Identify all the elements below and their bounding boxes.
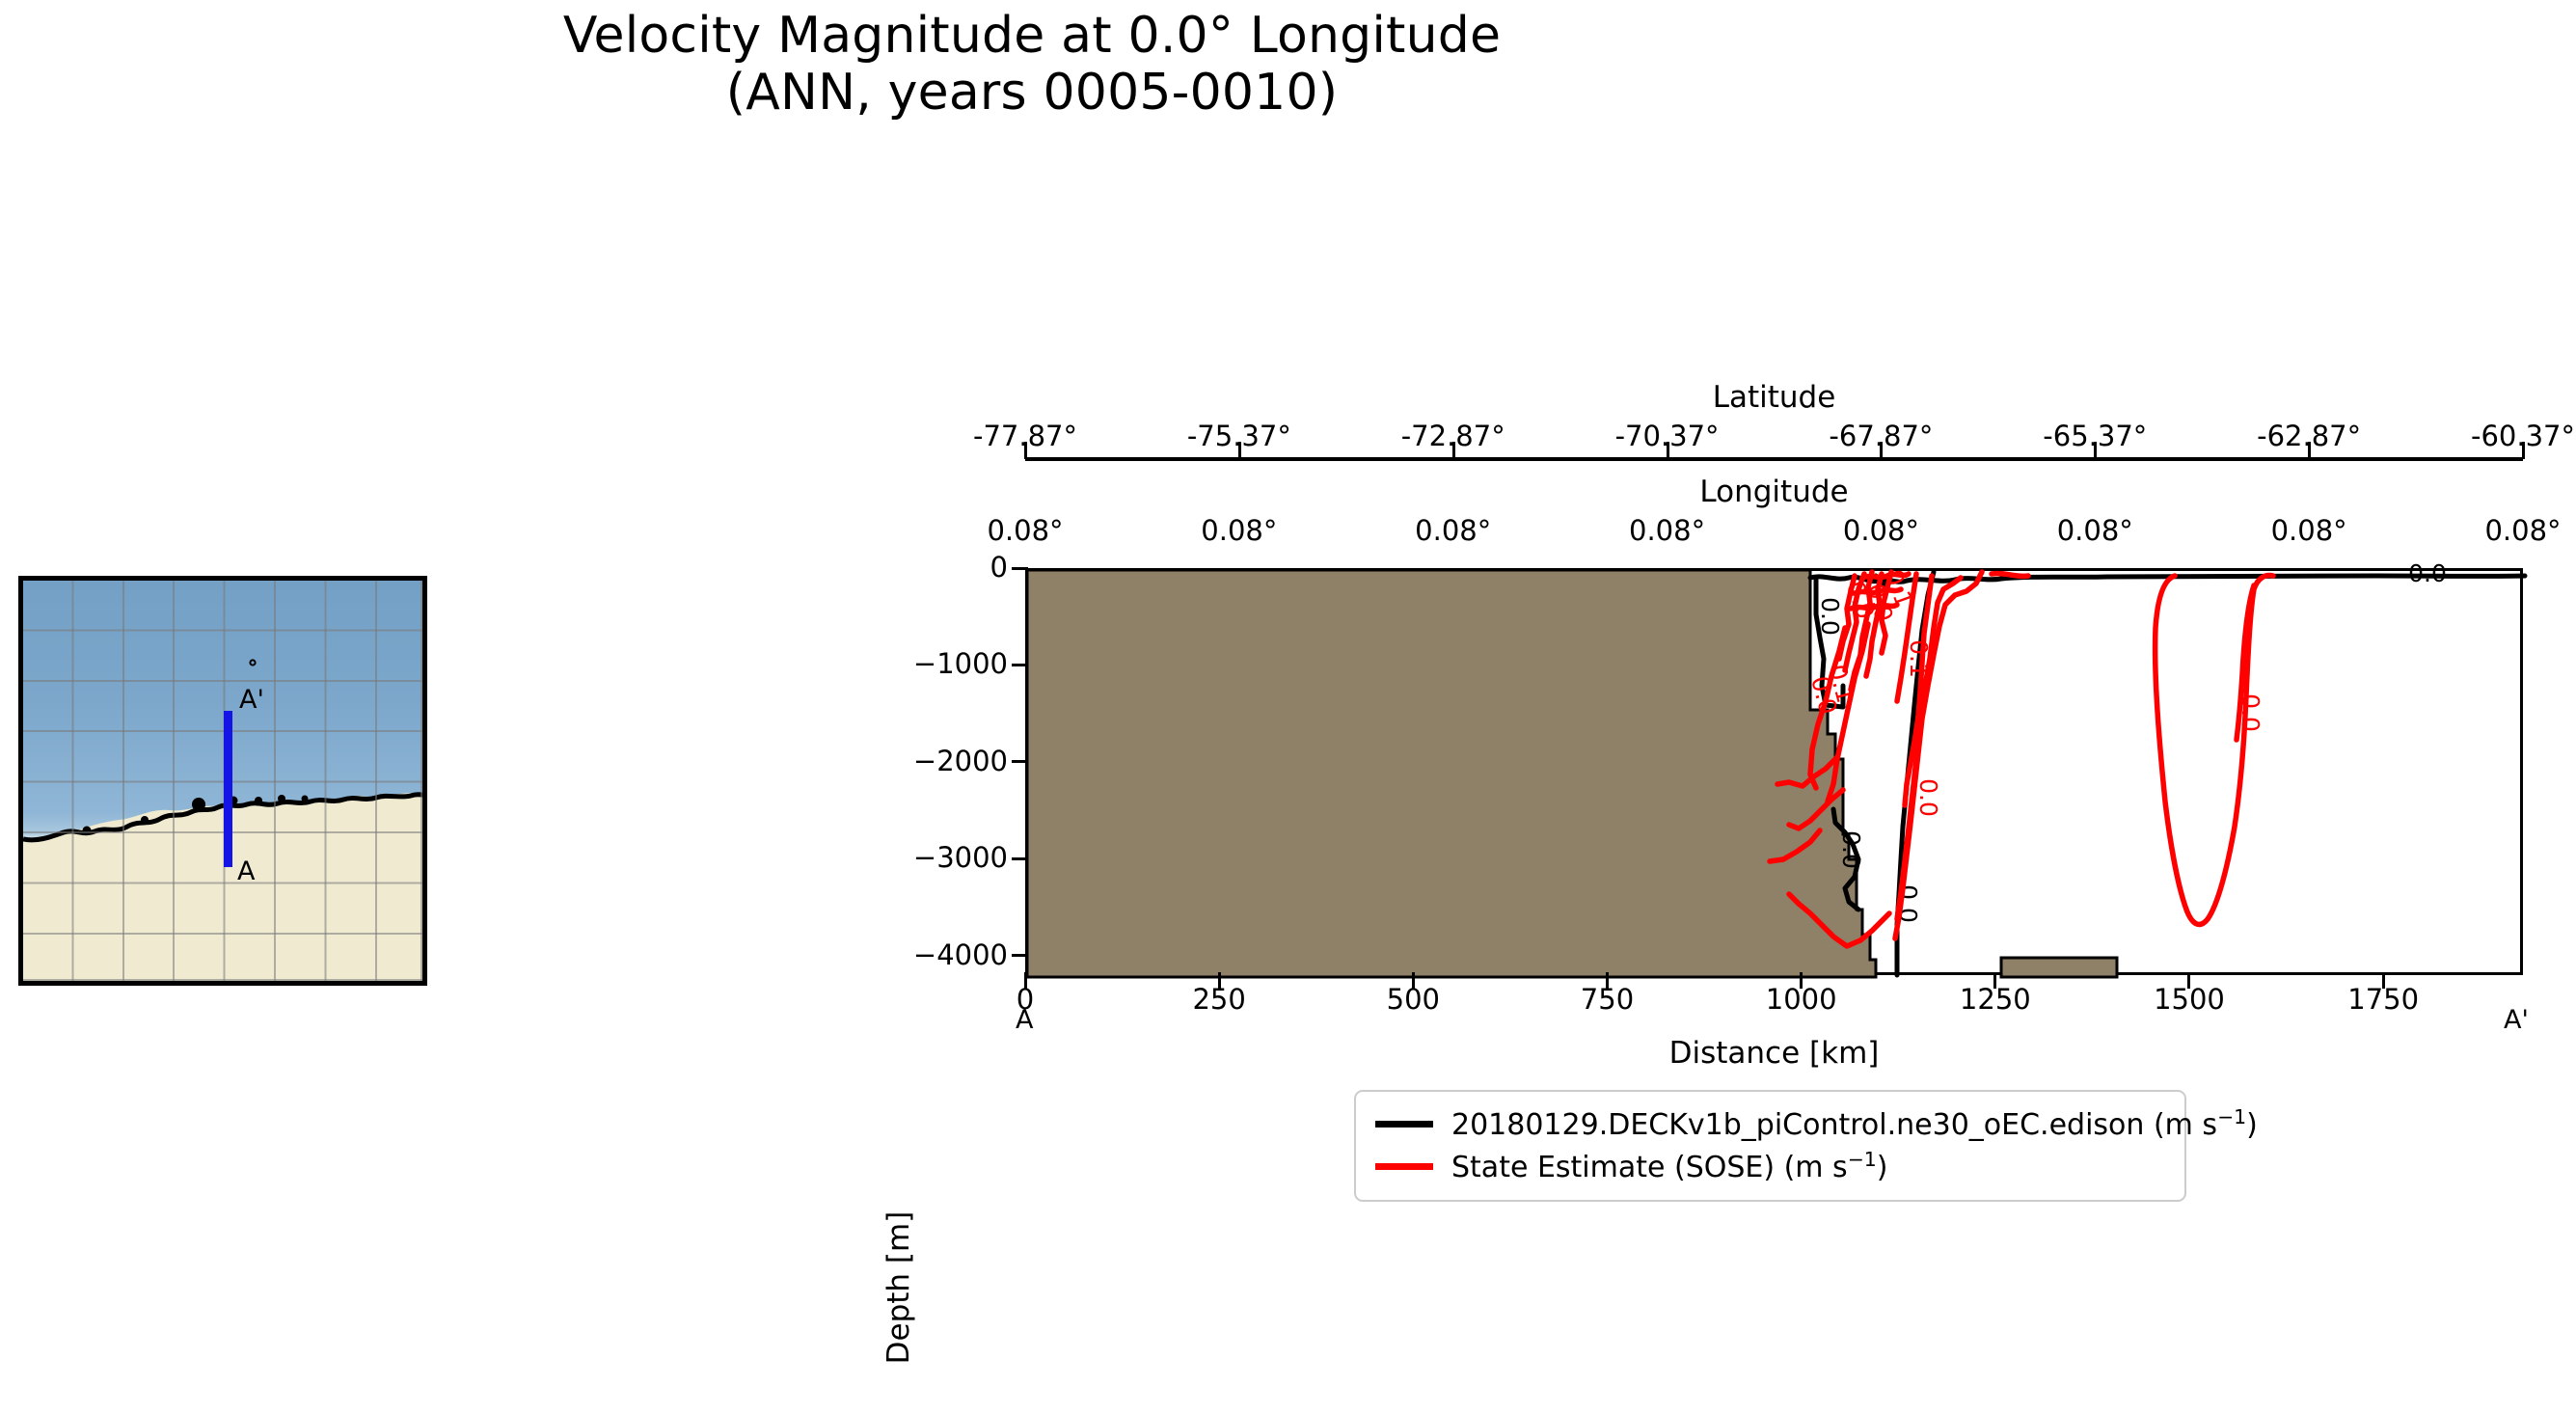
latitude-tick-mark	[1667, 442, 1669, 459]
series-legend[interactable]: 20180129.DECKv1b_piControl.ne30_oEC.edis…	[1354, 1090, 2186, 1202]
legend-label-model: 20180129.DECKv1b_piControl.ne30_oEC.edis…	[1451, 1107, 2258, 1140]
distance-tick-label: 750	[1530, 986, 1684, 1014]
svg-text:0.0: 0.0	[2408, 559, 2447, 587]
depth-tick-mark	[1012, 857, 1028, 860]
distance-tick-mark	[1024, 972, 1027, 989]
title-line-2: (ANN, years 0005-0010)	[0, 65, 2064, 122]
depth-tick-mark	[1012, 760, 1028, 763]
distance-tick-mark	[2382, 972, 2385, 989]
distance-tick-label: 500	[1336, 986, 1490, 1014]
latitude-axis-title: Latitude	[1025, 383, 2523, 413]
sose-contour-labels: 0.0 0.0 0.1 0.1 0.0 0.1 0.0 0.0	[1805, 565, 2264, 816]
legend-entry-sose[interactable]: State Estimate (SOSE) (m s−1)	[1375, 1145, 2165, 1187]
depth-tick-mark	[1012, 954, 1028, 957]
longitude-tick-label: 0.08°	[1152, 517, 1326, 545]
longitude-tick-label: 0.08°	[1367, 517, 1540, 545]
distance-tick-mark	[1993, 972, 1996, 989]
latitude-tick-label: -60.37°	[2436, 422, 2576, 450]
depth-tick-label: −4000	[858, 941, 1008, 969]
longitude-tick-label: 0.08°	[938, 517, 1112, 545]
legend-entry-model[interactable]: 20180129.DECKv1b_piControl.ne30_oEC.edis…	[1375, 1102, 2165, 1145]
seamount-fill	[2001, 958, 2117, 977]
legend-swatch-sose	[1375, 1163, 1433, 1170]
transect-start-label: A	[237, 858, 255, 884]
longitude-tick-label: 0.08°	[2008, 517, 2182, 545]
latitude-tick-mark	[2094, 442, 2097, 459]
distance-axis-title: Distance [km]	[1025, 1039, 2523, 1069]
title-line-1: Velocity Magnitude at 0.0° Longitude	[563, 7, 1501, 65]
transect-end-label: A'	[239, 687, 264, 713]
legend-swatch-model	[1375, 1121, 1433, 1128]
latitude-tick-mark	[1452, 442, 1455, 459]
distance-tick-mark	[1800, 972, 1803, 989]
latitude-tick-mark	[1238, 442, 1241, 459]
latitude-tick-mark	[1880, 442, 1883, 459]
locator-map[interactable]: A' A	[18, 576, 427, 986]
latitude-tick-mark	[1024, 442, 1027, 459]
svg-text:0.1: 0.1	[1905, 639, 1933, 678]
distance-tick-label: 250	[1142, 986, 1296, 1014]
distance-tick-label: 1500	[2112, 986, 2266, 1014]
depth-tick-label: 0	[858, 554, 1008, 582]
longitude-axis-title: Longitude	[1025, 477, 2523, 507]
distance-tick-label: 1750	[2306, 986, 2460, 1014]
depth-tick-label: −2000	[858, 747, 1008, 775]
distance-tick-mark	[2187, 972, 2190, 989]
distance-tick-label: 1250	[1918, 986, 2073, 1014]
distance-tick-label: 1000	[1724, 986, 1879, 1014]
distance-tick-mark	[1218, 972, 1221, 989]
depth-tick-label: −3000	[858, 844, 1008, 872]
figure-title: Velocity Magnitude at 0.0° Longitude (AN…	[0, 8, 2064, 122]
latitude-tick-mark	[2308, 442, 2311, 459]
distance-tick-mark	[1412, 972, 1415, 989]
svg-text:0.0: 0.0	[1914, 778, 1942, 817]
distance-tick-mark	[1606, 972, 1609, 989]
map-gridlines	[23, 581, 422, 981]
depth-tick-mark	[1012, 664, 1028, 666]
section-end-label: A'	[2504, 1005, 2529, 1035]
bathymetry-fill	[1027, 570, 1876, 977]
longitude-tick-label: 0.08°	[1794, 517, 1967, 545]
section-start-label: A	[1016, 1005, 1033, 1035]
latitude-tick-mark	[2522, 442, 2525, 459]
longitude-tick-label: 0.08°	[2436, 517, 2576, 545]
depth-axis-title: Depth [m]	[881, 1162, 916, 1413]
svg-text:0.0: 0.0	[2237, 693, 2264, 732]
latitude-axis-spine	[1025, 457, 2523, 461]
svg-text:0.0: 0.0	[1837, 830, 1865, 869]
svg-text:0.0: 0.0	[1816, 597, 1844, 636]
contour-canvas: 0.0 0.0 0.0 0.0	[1027, 570, 2525, 977]
legend-label-sose: State Estimate (SOSE) (m s−1)	[1451, 1150, 1887, 1182]
depth-tick-mark	[1012, 567, 1028, 570]
transect-line[interactable]	[224, 711, 232, 867]
longitude-tick-label: 0.08°	[1581, 517, 1754, 545]
longitude-tick-label: 0.08°	[2222, 517, 2396, 545]
cross-section-plot[interactable]: 0.0 0.0 0.0 0.0	[1025, 568, 2523, 975]
depth-tick-label: −1000	[858, 650, 1008, 678]
